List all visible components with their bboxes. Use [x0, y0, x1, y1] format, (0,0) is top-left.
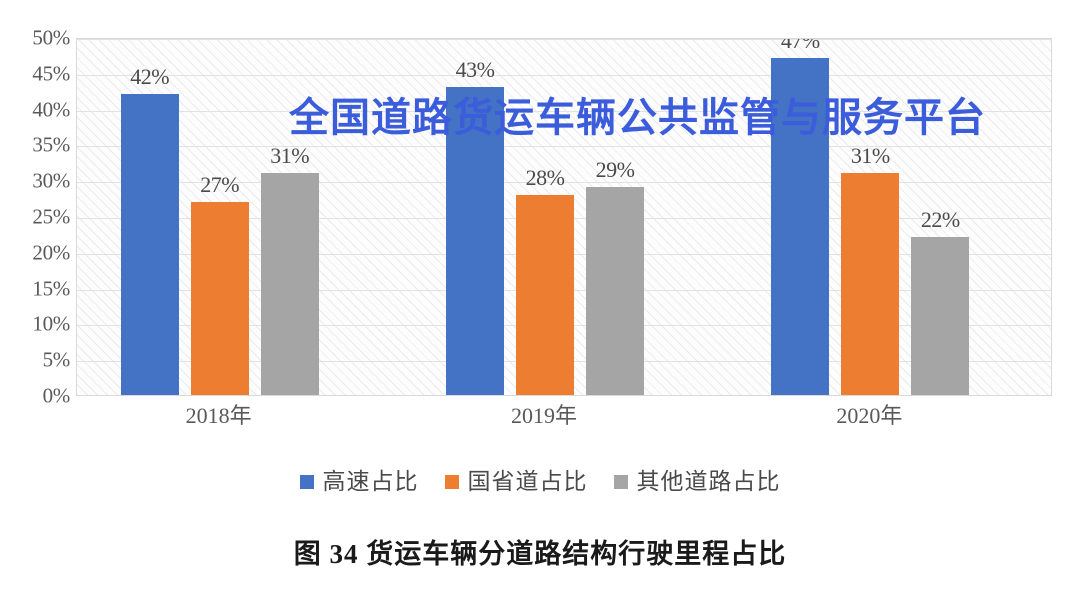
legend-item[interactable]: 国省道占比	[445, 470, 588, 493]
x-axis-tick-label: 2020年	[836, 405, 902, 427]
y-axis-tick-label: 25%	[2, 207, 70, 228]
plot-area: 42%27%31%43%28%29%47%31%22%	[76, 38, 1052, 396]
bar-value-label: 28%	[526, 167, 565, 189]
legend-item[interactable]: 其他道路占比	[614, 470, 781, 493]
bar[interactable]	[121, 94, 179, 395]
bar-value-label: 29%	[596, 159, 635, 181]
figure-container: 0%5%10%15%20%25%30%35%40%45%50% 42%27%31…	[0, 0, 1080, 596]
legend-swatch-icon	[614, 475, 628, 489]
bar[interactable]	[261, 173, 319, 395]
bar[interactable]	[516, 195, 574, 395]
legend-item-label: 国省道占比	[468, 470, 588, 493]
legend-swatch-icon	[300, 475, 314, 489]
bar-value-label: 31%	[270, 145, 309, 167]
y-axis-tick-label: 40%	[2, 99, 70, 120]
bar-value-label: 22%	[921, 209, 960, 231]
bar-value-label: 47%	[781, 38, 820, 52]
legend-swatch-icon	[445, 475, 459, 489]
y-axis-tick-label: 10%	[2, 314, 70, 335]
bar-value-label: 27%	[200, 174, 239, 196]
gridline	[77, 39, 1051, 40]
y-axis-tick-label: 50%	[2, 28, 70, 49]
bar[interactable]	[911, 237, 969, 395]
gridline	[77, 146, 1051, 147]
bar-value-label: 31%	[851, 145, 890, 167]
legend-item-label: 其他道路占比	[637, 470, 781, 493]
bar[interactable]	[841, 173, 899, 395]
y-axis-tick-label: 30%	[2, 171, 70, 192]
y-axis-tick-label: 0%	[2, 386, 70, 407]
bar[interactable]	[446, 87, 504, 395]
bar-value-label: 43%	[456, 59, 495, 81]
y-axis-tick-label: 45%	[2, 63, 70, 84]
y-axis-tick-label: 35%	[2, 135, 70, 156]
y-axis-tick-label: 5%	[2, 350, 70, 371]
gridline	[77, 75, 1051, 76]
bar[interactable]	[586, 187, 644, 395]
y-axis: 0%5%10%15%20%25%30%35%40%45%50%	[0, 38, 70, 396]
legend-item[interactable]: 高速占比	[300, 470, 419, 493]
bar[interactable]	[191, 202, 249, 395]
y-axis-tick-label: 15%	[2, 278, 70, 299]
y-axis-tick-label: 20%	[2, 242, 70, 263]
bar[interactable]	[771, 58, 829, 395]
x-axis: 2018年2019年2020年	[76, 398, 1052, 438]
x-axis-tick-label: 2018年	[186, 405, 252, 427]
x-axis-tick-label: 2019年	[511, 405, 577, 427]
chart-legend: 高速占比国省道占比其他道路占比	[0, 470, 1080, 493]
bar-value-label: 42%	[130, 66, 169, 88]
gridline	[77, 111, 1051, 112]
legend-item-label: 高速占比	[323, 470, 419, 493]
figure-caption: 图 34 货运车辆分道路结构行驶里程占比	[0, 538, 1080, 570]
